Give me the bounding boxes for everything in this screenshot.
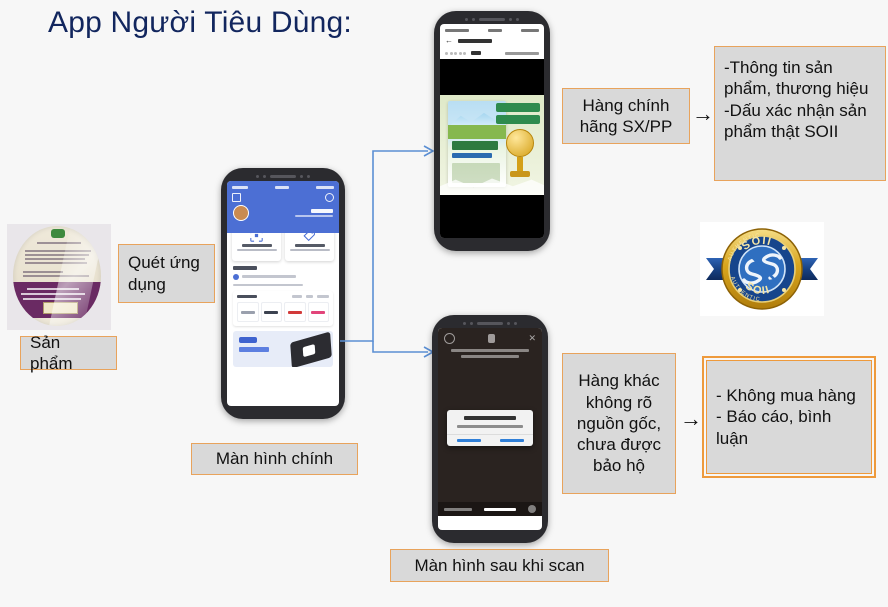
list-item[interactable] bbox=[233, 274, 333, 280]
phone-scan-failed: ✕ bbox=[432, 315, 548, 543]
condition-unknown-goods: Hàng khác không rõ nguồn gốc, chưa được … bbox=[562, 353, 676, 494]
report-button[interactable] bbox=[447, 435, 490, 446]
user-profile-row[interactable] bbox=[227, 203, 339, 221]
soii-seal-icon: SOII SOII AUTHENTIC AUTHENTIC bbox=[700, 222, 824, 316]
brand-logo[interactable] bbox=[237, 302, 259, 322]
award-trophy-icon bbox=[506, 129, 534, 179]
promo-badge bbox=[239, 337, 257, 343]
soii-authentic-seal: SOII SOII AUTHENTIC AUTHENTIC bbox=[700, 222, 824, 316]
rating-row bbox=[440, 48, 544, 59]
scan-hint-text bbox=[438, 349, 542, 358]
arrow-unknown-icon: → bbox=[680, 408, 702, 430]
close-button[interactable] bbox=[490, 435, 533, 446]
outcome-unknown-goods: - Không mua hàng - Báo cáo, bình luận bbox=[706, 360, 872, 474]
status-bar bbox=[227, 181, 339, 192]
nav-bar bbox=[438, 516, 542, 530]
camera-view: ✕ bbox=[438, 328, 542, 530]
promo-title bbox=[239, 347, 269, 352]
label-scan-app: Quét ứng dụng bbox=[118, 244, 215, 303]
arrowhead-up bbox=[424, 146, 433, 156]
camera-mode-bar bbox=[438, 502, 542, 516]
condition-genuine-goods-text: Hàng chính hãng SX/PP bbox=[572, 95, 680, 138]
phone-main-display bbox=[227, 181, 339, 406]
label-main-screen: Màn hình chính bbox=[191, 443, 358, 475]
certification-badges bbox=[496, 103, 540, 127]
card-image bbox=[290, 332, 332, 367]
outcome-genuine-goods: -Thông tin sản phẩm, thương hiệu -Dấu xá… bbox=[714, 46, 886, 181]
status-bar bbox=[440, 24, 544, 34]
brand-logo[interactable] bbox=[284, 302, 306, 322]
promo-card[interactable] bbox=[233, 331, 333, 367]
app-toolbar bbox=[227, 192, 339, 203]
scan-failed-dialog bbox=[447, 410, 533, 446]
arrow-genuine-icon: → bbox=[692, 103, 714, 125]
image-letterbox-bottom bbox=[440, 195, 544, 238]
slide-canvas: App Người Tiêu Dùng: Quét ứng dụng bbox=[0, 0, 888, 607]
label-product-text: Sản phẩm bbox=[30, 332, 107, 375]
product-brand-logo-icon bbox=[51, 229, 65, 238]
phone-product-display: ← bbox=[440, 24, 544, 238]
dialog-message bbox=[457, 425, 522, 428]
image-letterbox-top bbox=[440, 59, 544, 95]
label-after-scan-screen: Màn hình sau khi scan bbox=[390, 549, 609, 582]
gear-icon[interactable] bbox=[528, 505, 536, 513]
brands-panel bbox=[233, 291, 333, 326]
detail-header: ← bbox=[440, 34, 544, 48]
flash-icon[interactable] bbox=[488, 334, 495, 343]
phone-main-screen bbox=[221, 168, 345, 419]
user-name-block bbox=[295, 209, 333, 218]
app-header bbox=[227, 181, 339, 233]
product-image bbox=[440, 95, 544, 195]
label-scan-app-text: Quét ứng dụng bbox=[128, 252, 205, 295]
mode-security[interactable] bbox=[484, 508, 516, 511]
back-arrow-icon[interactable]: ← bbox=[445, 37, 453, 45]
brand-logo[interactable] bbox=[261, 302, 283, 322]
phone-product-detail: ← bbox=[434, 11, 550, 251]
mode-sticker[interactable] bbox=[444, 508, 472, 511]
screen-title bbox=[458, 39, 492, 43]
label-product: Sản phẩm bbox=[20, 336, 117, 370]
condition-unknown-goods-text: Hàng khác không rõ nguồn gốc, chưa được … bbox=[572, 370, 666, 476]
phone-speaker bbox=[432, 319, 548, 327]
info-icon[interactable] bbox=[444, 333, 455, 344]
dialog-buttons bbox=[447, 434, 533, 446]
outcome-genuine-goods-text: -Thông tin sản phẩm, thương hiệu -Dấu xá… bbox=[724, 57, 876, 142]
condition-genuine-goods: Hàng chính hãng SX/PP bbox=[562, 88, 690, 144]
bullet-icon bbox=[233, 274, 239, 280]
product-photo bbox=[7, 224, 111, 330]
product-label-disc bbox=[13, 226, 101, 326]
phone-speaker bbox=[221, 172, 345, 180]
write-review-link[interactable] bbox=[505, 52, 539, 55]
menu-icon[interactable] bbox=[232, 193, 241, 202]
close-icon[interactable]: ✕ bbox=[528, 334, 536, 343]
gear-icon[interactable] bbox=[325, 193, 334, 202]
avatar[interactable] bbox=[233, 205, 249, 221]
label-main-screen-text: Màn hình chính bbox=[201, 448, 348, 469]
star-rating-icon bbox=[445, 51, 481, 55]
dialog-title bbox=[464, 416, 516, 420]
phone-speaker bbox=[434, 15, 550, 23]
label-after-scan-screen-text: Màn hình sau khi scan bbox=[400, 555, 599, 576]
brand-logo-row bbox=[237, 302, 329, 322]
page-title: App Người Tiêu Dùng: bbox=[48, 6, 352, 40]
notice-section bbox=[227, 261, 339, 286]
brand-logo[interactable] bbox=[308, 302, 330, 322]
outcome-unknown-goods-text: - Không mua hàng - Báo cáo, bình luận bbox=[716, 385, 862, 449]
phone-scan-display: ✕ bbox=[438, 328, 542, 530]
camera-toolbar: ✕ bbox=[438, 328, 542, 349]
